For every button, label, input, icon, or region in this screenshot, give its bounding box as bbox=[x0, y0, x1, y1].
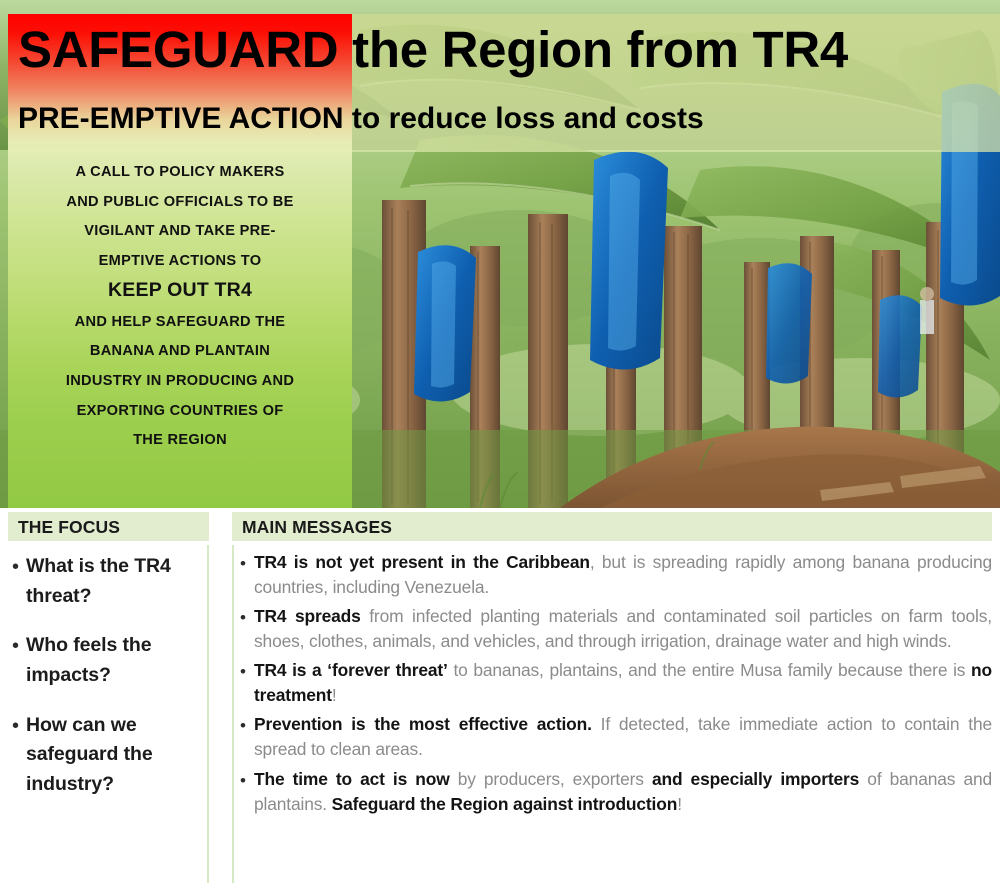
call-to-action-panel: A CALL TO POLICY MAKERSAND PUBLIC OFFICI… bbox=[8, 152, 352, 508]
cta-line: INDUSTRY IN PRODUCING AND bbox=[24, 367, 336, 397]
bullet-icon: • bbox=[240, 550, 254, 577]
focus-list-item: •What is the TR4 threat? bbox=[8, 552, 204, 611]
cta-line: EXPORTING COUNTRIES OF bbox=[24, 397, 336, 427]
poster-root: SAFEGUARD the Region from TR4 PRE-EMPTIV… bbox=[0, 0, 1000, 890]
focus-list-item-label: Who feels the impacts? bbox=[26, 631, 204, 690]
main-message-text: TR4 is not yet present in the Caribbean,… bbox=[254, 550, 992, 600]
bullet-icon: • bbox=[240, 658, 254, 685]
focus-question-list: •What is the TR4 threat?•Who feels the i… bbox=[8, 552, 204, 819]
focus-list-item-label: What is the TR4 threat? bbox=[26, 552, 204, 611]
poster-title-primary: SAFEGUARD the Region from TR4 bbox=[18, 24, 848, 75]
cta-line: A CALL TO POLICY MAKERS bbox=[24, 158, 336, 188]
main-message-item: •The time to act is now by producers, ex… bbox=[240, 767, 992, 817]
subtitle-keyword-preemptive-action: PRE-EMPTIVE ACTION bbox=[18, 102, 344, 135]
cta-line: BANANA AND PLANTAIN bbox=[24, 337, 336, 367]
cta-line: THE REGION bbox=[24, 426, 336, 456]
focus-section-title: THE FOCUS bbox=[18, 519, 120, 537]
cta-line: VIGILANT AND TAKE PRE- bbox=[24, 217, 336, 247]
column-divider-right bbox=[232, 545, 234, 883]
bullet-icon: • bbox=[12, 552, 26, 582]
focus-section-header: THE FOCUS bbox=[8, 512, 209, 541]
column-divider-left bbox=[207, 545, 209, 883]
main-messages-list: •TR4 is not yet present in the Caribbean… bbox=[240, 550, 992, 821]
title-keyword-safeguard: SAFEGUARD bbox=[18, 21, 338, 78]
cta-line: EMPTIVE ACTIONS TO bbox=[24, 247, 336, 277]
title-remainder: the Region from TR4 bbox=[338, 21, 848, 78]
main-message-item: •TR4 spreads from infected planting mate… bbox=[240, 604, 992, 654]
main-messages-section-title: MAIN MESSAGES bbox=[242, 519, 392, 537]
focus-list-item-label: How can we safeguard the industry? bbox=[26, 711, 204, 800]
main-messages-section-header: MAIN MESSAGES bbox=[232, 512, 992, 541]
main-message-text: TR4 is a ‘forever threat’ to bananas, pl… bbox=[254, 658, 992, 708]
bullet-icon: • bbox=[12, 631, 26, 661]
focus-list-item: •Who feels the impacts? bbox=[8, 631, 204, 690]
main-message-item: •TR4 is a ‘forever threat’ to bananas, p… bbox=[240, 658, 992, 708]
cta-line: AND HELP SAFEGUARD THE bbox=[24, 308, 336, 338]
cta-line: AND PUBLIC OFFICIALS TO BE bbox=[24, 188, 336, 218]
main-message-item: •Prevention is the most effective action… bbox=[240, 712, 992, 762]
focus-list-item: •How can we safeguard the industry? bbox=[8, 711, 204, 800]
bullet-icon: • bbox=[240, 767, 254, 794]
main-message-text: TR4 spreads from infected planting mater… bbox=[254, 604, 992, 654]
bullet-icon: • bbox=[240, 604, 254, 631]
bullet-icon: • bbox=[12, 711, 26, 741]
bullet-icon: • bbox=[240, 712, 254, 739]
main-message-text: The time to act is now by producers, exp… bbox=[254, 767, 992, 817]
main-message-text: Prevention is the most effective action.… bbox=[254, 712, 992, 762]
main-message-item: •TR4 is not yet present in the Caribbean… bbox=[240, 550, 992, 600]
cta-line: KEEP OUT TR4 bbox=[24, 276, 336, 308]
poster-title-secondary: PRE-EMPTIVE ACTION to reduce loss and co… bbox=[18, 104, 704, 134]
subtitle-remainder: to reduce loss and costs bbox=[344, 102, 704, 135]
